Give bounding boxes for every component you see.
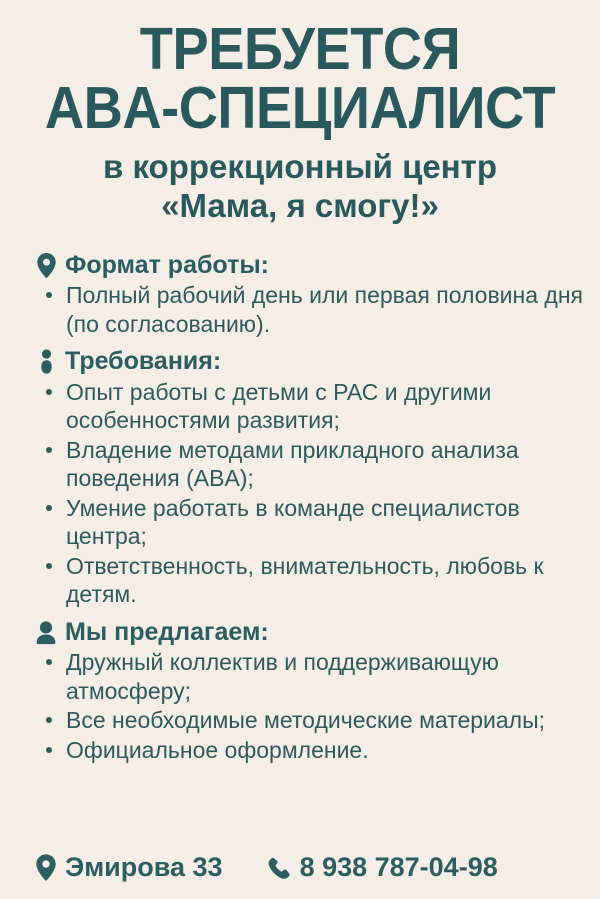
location-pin-icon	[36, 854, 56, 881]
section-requirements-title: Требования:	[65, 348, 221, 376]
section-offer-list: Дружный коллектив и поддерживающую атмос…	[36, 648, 592, 764]
subtitle-line-1: в коррекционный центр	[8, 148, 592, 187]
job-poster: ТРЕБУЕТСЯ ABA-СПЕЦИАЛИСТ в коррекционный…	[0, 0, 600, 899]
section-offer-title: Мы предлагаем:	[65, 619, 269, 647]
section-offer: Мы предлагаем: Дружный коллектив и подде…	[36, 619, 592, 765]
list-item: Официальное оформление.	[36, 736, 592, 765]
person-slim-icon	[36, 349, 56, 375]
sections-container: Формат работы: Полный рабочий день или п…	[0, 226, 600, 765]
location-pin-icon	[36, 252, 56, 278]
list-item: Дружный коллектив и поддерживающую атмос…	[36, 648, 592, 705]
list-item: Владение методами прикладного анализа по…	[36, 436, 592, 493]
section-format-head: Формат работы:	[36, 252, 592, 280]
footer-address[interactable]: Эмирова 33	[36, 852, 223, 883]
poster-header: ТРЕБУЕТСЯ ABA-СПЕЦИАЛИСТ в коррекционный…	[0, 0, 600, 226]
section-requirements-list: Опыт работы с детьми с РАС и другими осо…	[36, 378, 592, 609]
poster-footer: Эмирова 33 8 938 787-04-98	[0, 852, 600, 883]
phone-text: 8 938 787-04-98	[300, 852, 498, 883]
subtitle-line-2: «Мама, я смогу!»	[8, 187, 592, 226]
list-item: Все необходимые методические материалы;	[36, 706, 592, 735]
section-offer-head: Мы предлагаем:	[36, 619, 592, 647]
section-format: Формат работы: Полный рабочий день или п…	[36, 252, 592, 339]
footer-phone[interactable]: 8 938 787-04-98	[267, 852, 498, 883]
list-item: Ответственность, внимательность, любовь …	[36, 552, 592, 609]
person-user-icon	[36, 620, 56, 646]
section-requirements: Требования: Опыт работы с детьми с РАС и…	[36, 348, 592, 609]
address-text: Эмирова 33	[65, 852, 223, 883]
section-format-title: Формат работы:	[65, 252, 269, 280]
list-item: Опыт работы с детьми с РАС и другими осо…	[36, 378, 592, 435]
list-item: Умение работать в команде специалистов ц…	[36, 494, 592, 551]
page-title-line-1: ТРЕБУЕТСЯ	[31, 22, 568, 77]
phone-icon	[267, 856, 291, 880]
section-format-list: Полный рабочий день или первая половина …	[36, 281, 592, 338]
list-item: Полный рабочий день или первая половина …	[36, 281, 592, 338]
section-requirements-head: Требования:	[36, 348, 592, 376]
page-title-line-2: ABA-СПЕЦИАЛИСТ	[31, 81, 568, 136]
